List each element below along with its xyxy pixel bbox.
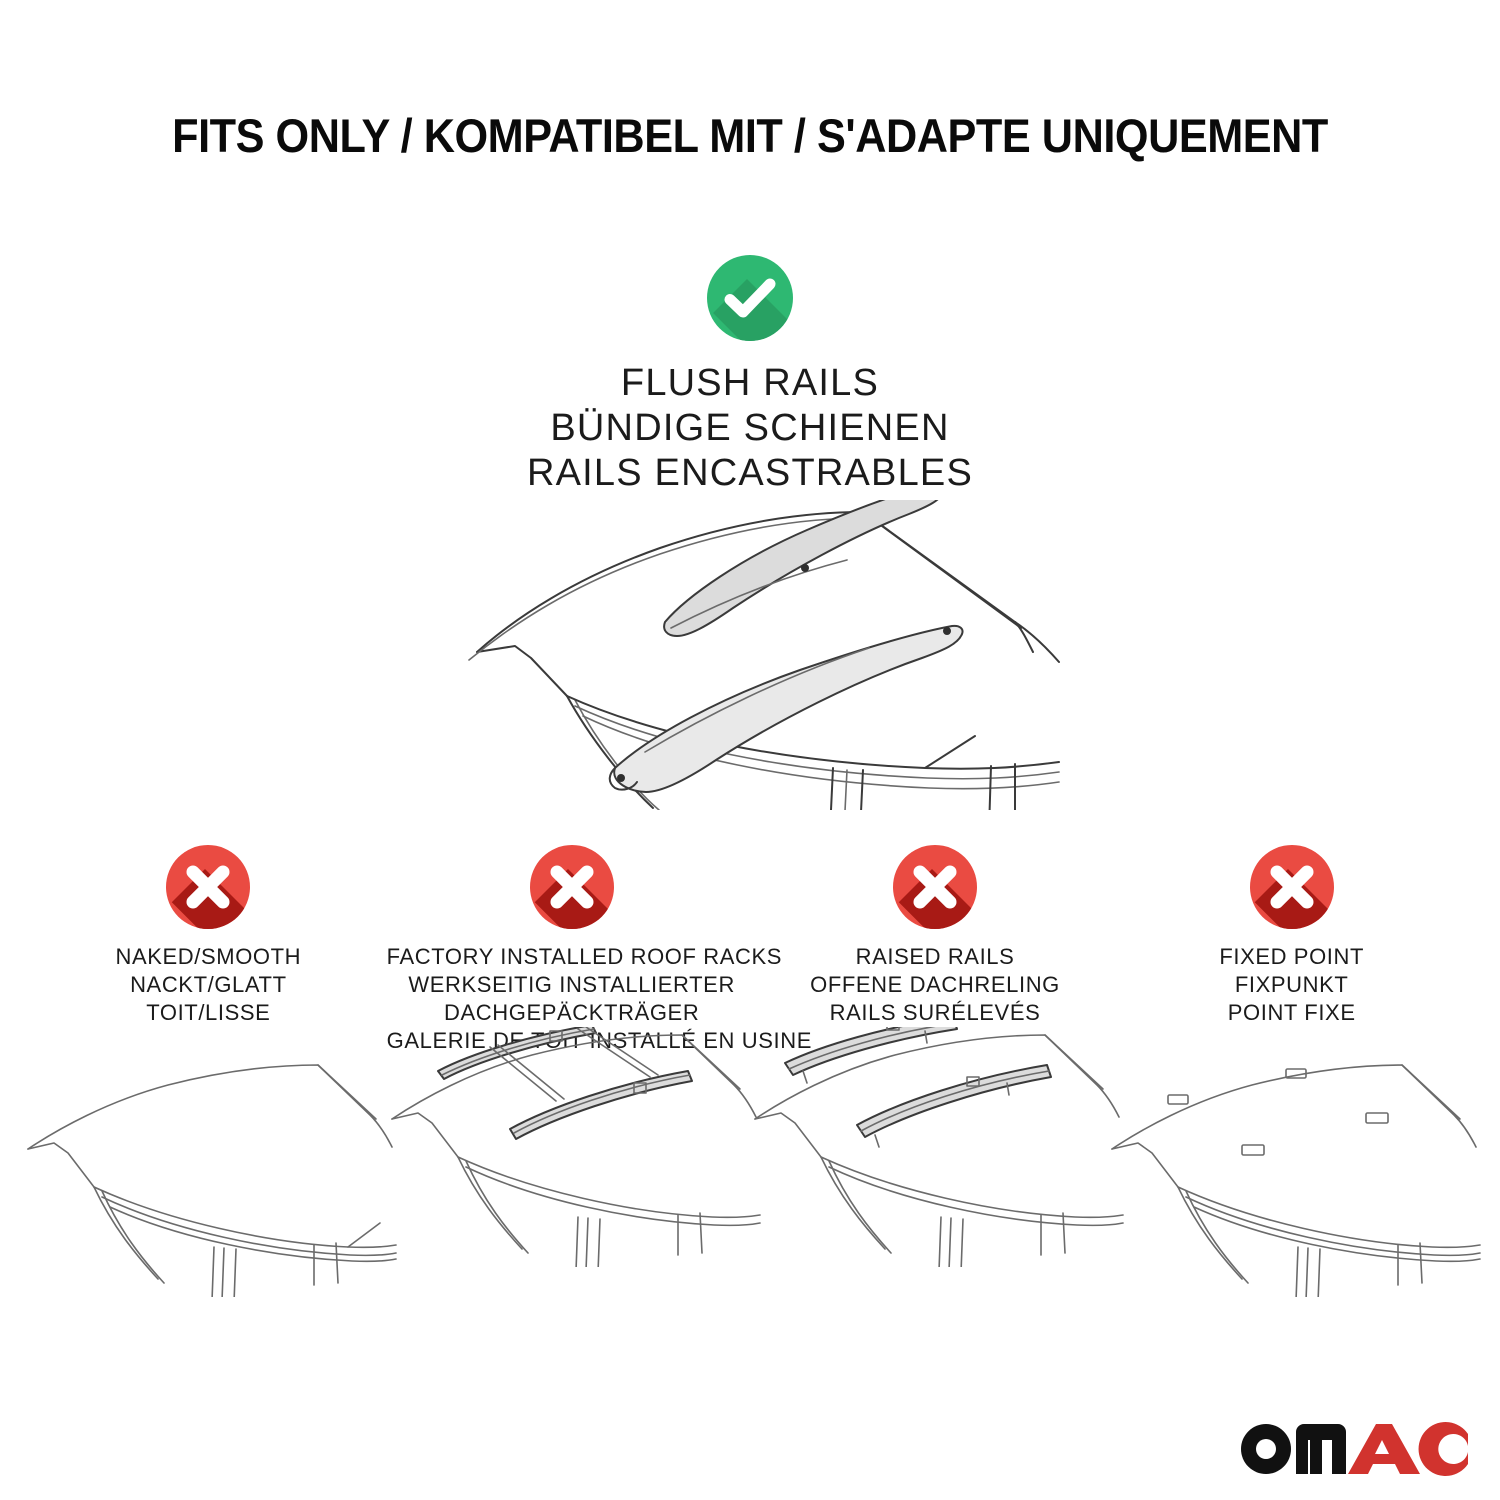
incompatible-item-raised-rails: RAISED RAILS OFFENE DACHRELING RAILS SUR… [757, 845, 1114, 1056]
incompatible-item-factory-roof-racks: FACTORY INSTALLED ROOF RACKS WERKSEITIG … [387, 845, 757, 1056]
incompatible-label-en: FACTORY INSTALLED ROOF RACKS [387, 943, 757, 971]
car-roof-fixed-point-illustration [1102, 1057, 1482, 1297]
incompatible-label-de: NACKT/GLATT [30, 971, 387, 999]
incompatible-labels: RAISED RAILS OFFENE DACHRELING RAILS SUR… [757, 943, 1114, 1027]
compatible-label-fr: RAILS ENCASTRABLES [0, 451, 1500, 496]
incompatible-label-de-1: WERKSEITIG INSTALLIERTER [387, 971, 757, 999]
compatible-label-en: FLUSH RAILS [0, 361, 1500, 406]
incompatible-item-fixed-point: FIXED POINT FIXPUNKT POINT FIXE [1113, 845, 1470, 1056]
x-circle-icon [893, 845, 977, 929]
incompatible-label-de: OFFENE DACHRELING [757, 971, 1114, 999]
compatible-section: FLUSH RAILS BÜNDIGE SCHIENEN RAILS ENCAS… [0, 255, 1500, 495]
incompatible-label-fr: POINT FIXE [1113, 999, 1470, 1027]
incompatible-label-en: RAISED RAILS [757, 943, 1114, 971]
car-roof-with-flush-rails-illustration [455, 500, 1065, 810]
incompatible-label-en: NAKED/SMOOTH [30, 943, 387, 971]
incompatible-label-en: FIXED POINT [1113, 943, 1470, 971]
incompatible-label-de: FIXPUNKT [1113, 971, 1470, 999]
x-circle-icon [1250, 845, 1334, 929]
x-circle-icon [166, 845, 250, 929]
incompatible-item-naked-smooth: NAKED/SMOOTH NACKT/GLATT TOIT/LISSE [30, 845, 387, 1056]
car-roof-factory-roof-racks-illustration [382, 1027, 762, 1267]
incompatible-labels: FIXED POINT FIXPUNKT POINT FIXE [1113, 943, 1470, 1027]
car-roof-naked-smooth-illustration [18, 1057, 398, 1297]
incompatible-label-de-2: DACHGEPÄCKTRÄGER [387, 999, 757, 1027]
infographic-page: FITS ONLY / KOMPATIBEL MIT / S'ADAPTE UN… [0, 0, 1500, 1500]
incompatible-label-fr: RAILS SURÉLEVÉS [757, 999, 1114, 1027]
page-title: FITS ONLY / KOMPATIBEL MIT / S'ADAPTE UN… [60, 108, 1440, 163]
compatible-label-de: BÜNDIGE SCHIENEN [0, 406, 1500, 451]
omac-logo [1236, 1418, 1468, 1478]
car-roof-raised-rails-illustration [745, 1027, 1125, 1267]
incompatible-label-fr: TOIT/LISSE [30, 999, 387, 1027]
x-circle-icon [530, 845, 614, 929]
compatible-labels: FLUSH RAILS BÜNDIGE SCHIENEN RAILS ENCAS… [0, 361, 1500, 495]
incompatible-section: NAKED/SMOOTH NACKT/GLATT TOIT/LISSE [0, 845, 1500, 1056]
incompatible-labels: NAKED/SMOOTH NACKT/GLATT TOIT/LISSE [30, 943, 387, 1027]
check-circle-icon [707, 255, 793, 341]
